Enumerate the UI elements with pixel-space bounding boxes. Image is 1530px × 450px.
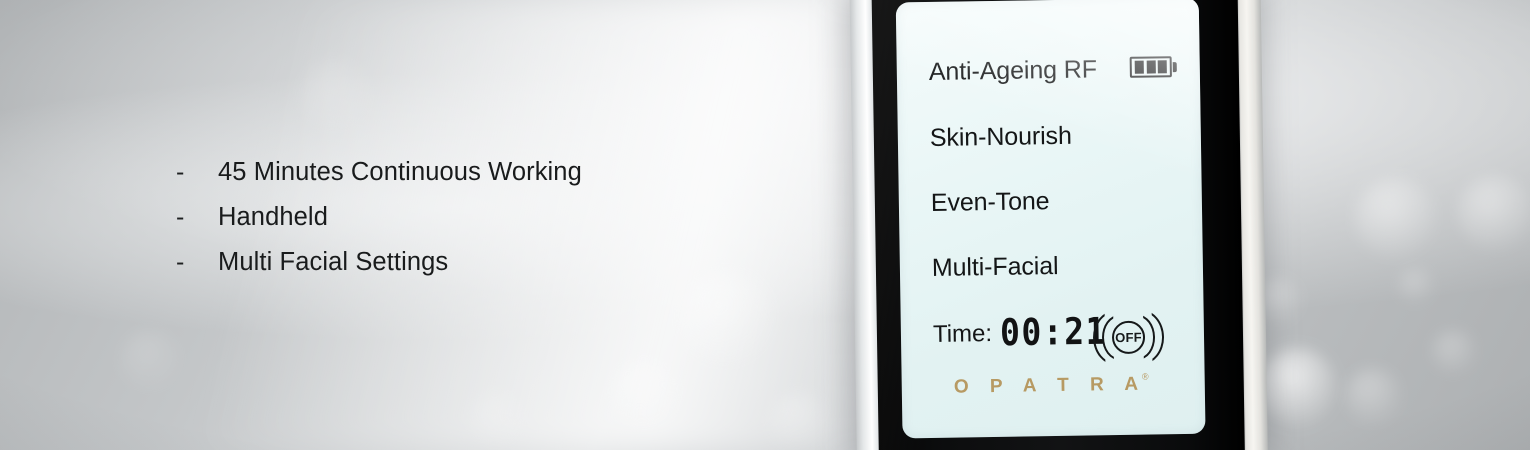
- registered-mark: ®: [1142, 371, 1149, 381]
- list-item: - Multi Facial Settings: [176, 248, 796, 293]
- brand-logo: O P A T R A®: [902, 373, 1205, 400]
- brand-name: O P A T R A: [954, 374, 1146, 399]
- product-feature-slide: - 45 Minutes Continuous Working - Handhe…: [0, 0, 1530, 450]
- list-item: - 45 Minutes Continuous Working: [176, 158, 796, 203]
- battery-bar: [1146, 60, 1155, 73]
- menu-item-multi-facial[interactable]: Multi-Facial: [932, 252, 1059, 283]
- menu-item-even-tone[interactable]: Even-Tone: [931, 187, 1050, 218]
- feature-label: Multi Facial Settings: [218, 248, 448, 277]
- battery-shell: [1130, 56, 1172, 78]
- battery-bar: [1135, 61, 1144, 74]
- off-circle: OFF: [1112, 321, 1146, 355]
- device-lcd-screen[interactable]: Anti-Ageing RF Skin-Nourish Even-Tone Mu…: [896, 0, 1206, 438]
- list-item: - Handheld: [176, 203, 796, 248]
- lcd-content: Anti-Ageing RF Skin-Nourish Even-Tone Mu…: [896, 0, 1206, 438]
- menu-item-anti-ageing-rf[interactable]: Anti-Ageing RF: [929, 55, 1098, 87]
- battery-bar: [1157, 60, 1166, 73]
- bullet-dash-icon: -: [176, 250, 218, 275]
- handheld-device: Anti-Ageing RF Skin-Nourish Even-Tone Mu…: [842, 0, 1269, 450]
- off-waves-icon[interactable]: OFF: [1089, 308, 1170, 365]
- feature-label: Handheld: [218, 203, 328, 232]
- feature-label: 45 Minutes Continuous Working: [218, 158, 582, 187]
- timer-label: Time:: [933, 320, 993, 349]
- battery-terminal: [1173, 62, 1177, 72]
- feature-list: - 45 Minutes Continuous Working - Handhe…: [176, 158, 796, 293]
- off-label: OFF: [1115, 331, 1142, 344]
- battery-icon: [1130, 56, 1177, 78]
- menu-item-skin-nourish[interactable]: Skin-Nourish: [930, 122, 1072, 153]
- bullet-dash-icon: -: [176, 160, 218, 185]
- bullet-dash-icon: -: [176, 205, 218, 230]
